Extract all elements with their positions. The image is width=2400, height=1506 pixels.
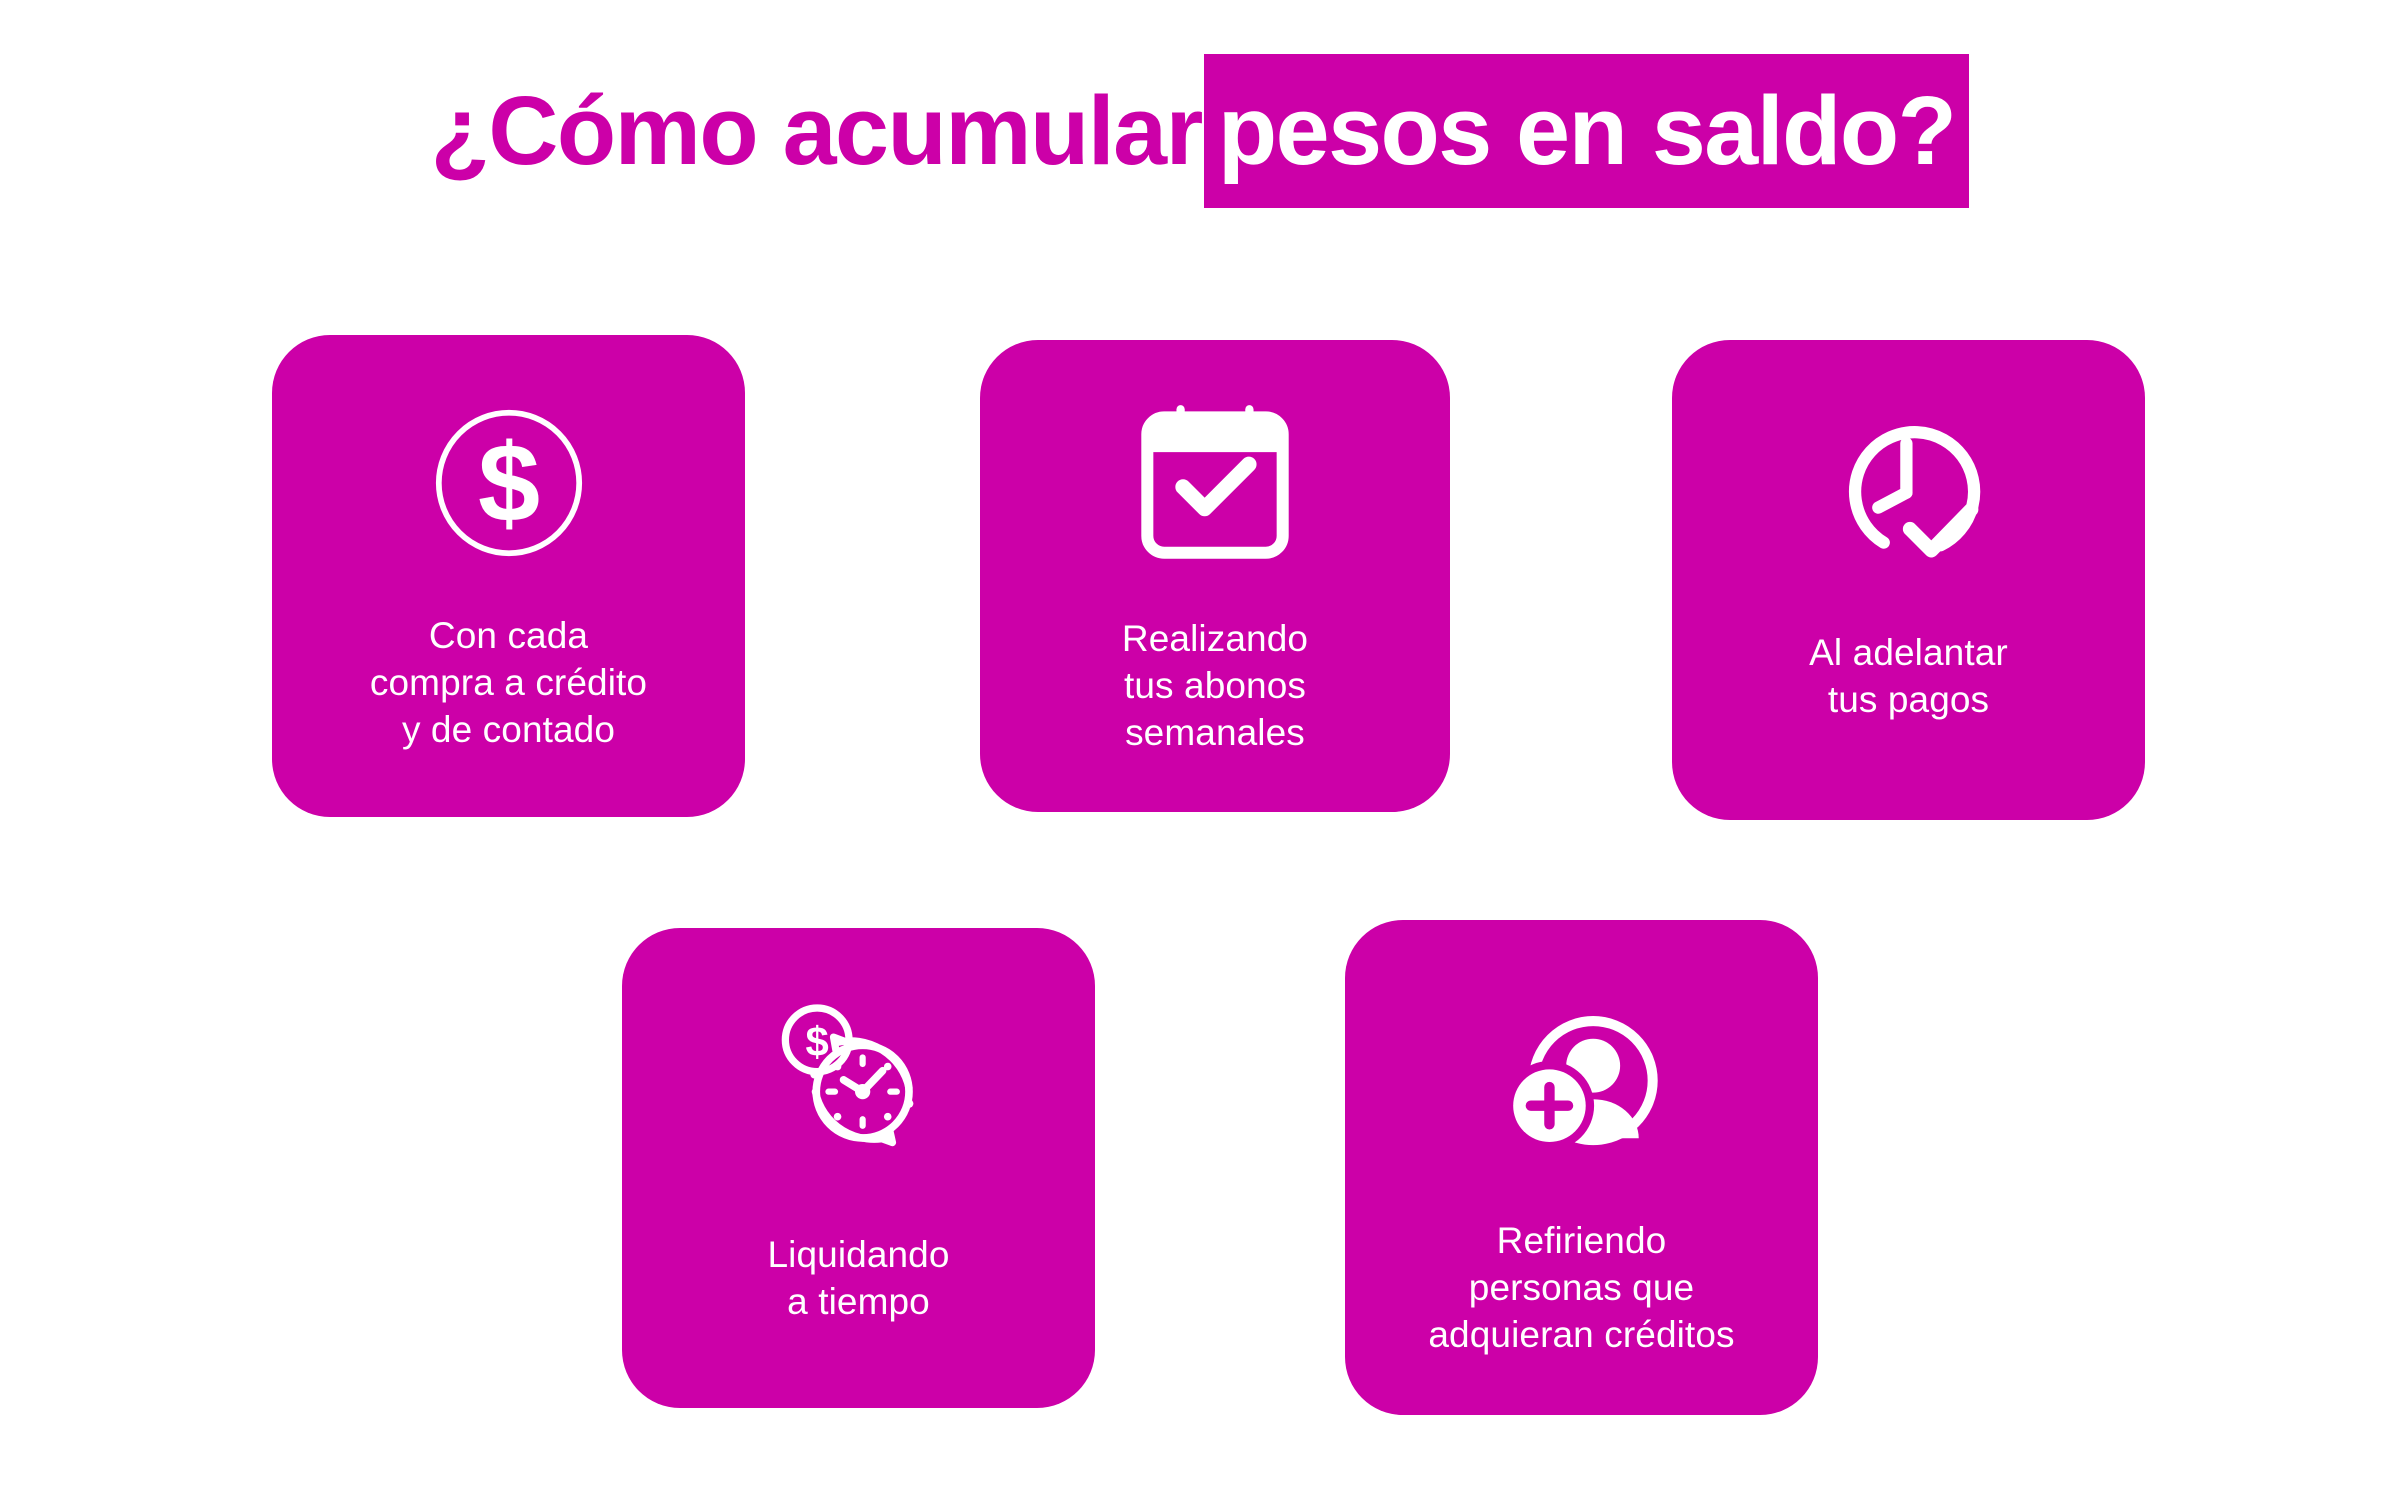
infographic-canvas: ¿Cómo acumularpesos en saldo? $ Con cada… [0,0,2400,1506]
benefit-card-con-cada-compra[interactable]: $ Con cada compra a crédito y de contado [272,335,745,817]
benefit-card-label: Liquidando a tiempo [622,1231,1095,1325]
user-add-icon [1489,982,1675,1173]
benefit-card-adelantar-pagos[interactable]: Al adelantar tus pagos [1672,340,2145,820]
dollar-circle-icon: $ [419,393,599,578]
benefit-card-liquidando-a-tiempo[interactable]: $ [622,928,1095,1408]
benefit-card-label: Con cada compra a crédito y de contado [272,612,745,753]
benefit-card-label: Realizando tus abonos semanales [980,615,1450,756]
benefit-card-grid: $ Con cada compra a crédito y de contado [0,0,2400,1506]
svg-text:$: $ [477,420,539,545]
benefit-card-abonos-semanales[interactable]: Realizando tus abonos semanales [980,340,1450,812]
calendar-check-icon [1121,392,1309,585]
clock-check-icon [1816,396,2002,587]
coin-clock-refresh-icon: $ [759,988,959,1193]
benefit-card-label: Refiriendo personas que adquieran crédit… [1345,1217,1818,1358]
benefit-card-label: Al adelantar tus pagos [1672,629,2145,723]
benefit-card-refiriendo-personas[interactable]: Refiriendo personas que adquieran crédit… [1345,920,1818,1415]
